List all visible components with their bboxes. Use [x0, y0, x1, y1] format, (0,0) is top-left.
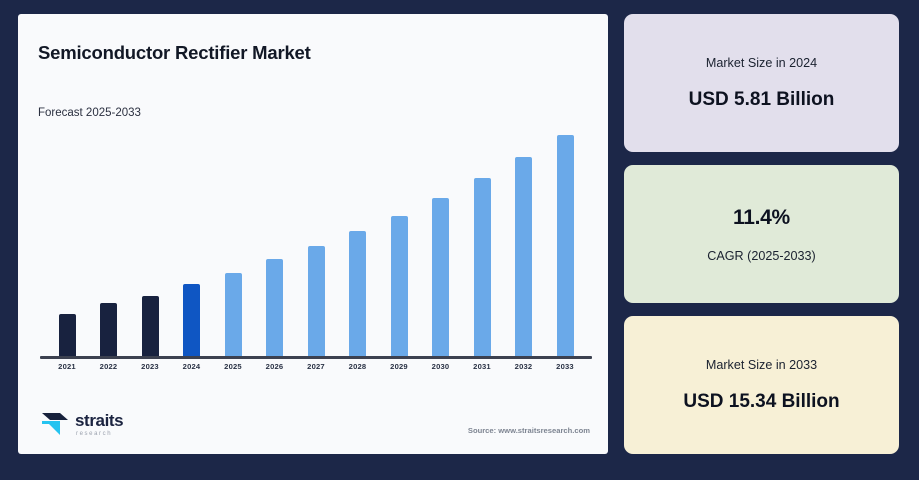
x-tick-2033: 2033 [546, 362, 584, 371]
x-axis-tick-labels: 2021202220232024202520262027202820292030… [40, 362, 592, 371]
bar-slot-2032 [505, 134, 543, 356]
stat-card-value: USD 5.81 Billion [689, 89, 835, 111]
stat-card-market-size-2024: Market Size in 2024USD 5.81 Billion [624, 14, 899, 152]
x-tick-2030: 2030 [422, 362, 460, 371]
bar-slot-2025 [214, 134, 252, 356]
x-tick-2032: 2032 [505, 362, 543, 371]
x-axis-line [40, 356, 592, 359]
bar-2027 [308, 246, 325, 356]
stat-card-label: CAGR (2025-2033) [707, 249, 816, 263]
bar-slot-2021 [48, 134, 86, 356]
bar-slot-2031 [463, 134, 501, 356]
x-tick-2029: 2029 [380, 362, 418, 371]
bar-slot-2028 [339, 134, 377, 356]
stat-card-cagr: 11.4%CAGR (2025-2033) [624, 165, 899, 303]
x-tick-2025: 2025 [214, 362, 252, 371]
bar-slot-2024 [173, 134, 211, 356]
x-tick-2028: 2028 [339, 362, 377, 371]
forecast-subtitle: Forecast 2025-2033 [38, 107, 141, 119]
x-tick-2027: 2027 [297, 362, 335, 371]
chart-plot-area [40, 134, 592, 356]
bar-2026 [266, 259, 283, 356]
x-tick-2021: 2021 [48, 362, 86, 371]
bar-2024 [183, 284, 200, 356]
straits-arrow-icon [40, 410, 70, 438]
logo-name: straits [75, 412, 123, 429]
stat-card-market-size-2033: Market Size in 2033USD 15.34 Billion [624, 316, 899, 454]
bar-2032 [515, 157, 532, 356]
x-tick-2024: 2024 [173, 362, 211, 371]
infographic-page: Semiconductor Rectifier Market Forecast … [0, 0, 919, 480]
bar-slot-2029 [380, 134, 418, 356]
stat-card-value: USD 15.34 Billion [683, 391, 839, 413]
bar-2029 [391, 216, 408, 356]
stat-card-label: Market Size in 2024 [706, 56, 817, 70]
bar-slot-2030 [422, 134, 460, 356]
page-title: Semiconductor Rectifier Market [38, 42, 311, 64]
bar-slot-2027 [297, 134, 335, 356]
bar-2028 [349, 231, 366, 356]
bar-slot-2033 [546, 134, 584, 356]
bar-2030 [432, 198, 449, 356]
bar-2021 [59, 314, 76, 356]
bar-slot-2022 [90, 134, 128, 356]
logo-subtitle: research [76, 431, 123, 437]
bar-2022 [100, 303, 117, 356]
bar-2025 [225, 273, 242, 356]
x-tick-2022: 2022 [90, 362, 128, 371]
stat-cards-column: Market Size in 2024USD 5.81 Billion11.4%… [624, 14, 899, 454]
x-tick-2026: 2026 [256, 362, 294, 371]
stat-card-value: 11.4% [733, 206, 790, 230]
bar-2033 [557, 135, 574, 356]
stat-card-label: Market Size in 2033 [706, 358, 817, 372]
chart-panel: Semiconductor Rectifier Market Forecast … [18, 14, 608, 454]
bar-slot-2026 [256, 134, 294, 356]
logo-wordmark: straits research [75, 412, 123, 437]
x-tick-2031: 2031 [463, 362, 501, 371]
x-tick-2023: 2023 [131, 362, 169, 371]
bar-slot-2023 [131, 134, 169, 356]
source-attribution: Source: www.straitsresearch.com [468, 426, 590, 435]
bar-2023 [142, 296, 159, 356]
straits-research-logo: straits research [40, 410, 123, 438]
market-size-bar-chart: 2021202220232024202520262027202820292030… [40, 134, 592, 376]
bar-2031 [474, 178, 491, 356]
